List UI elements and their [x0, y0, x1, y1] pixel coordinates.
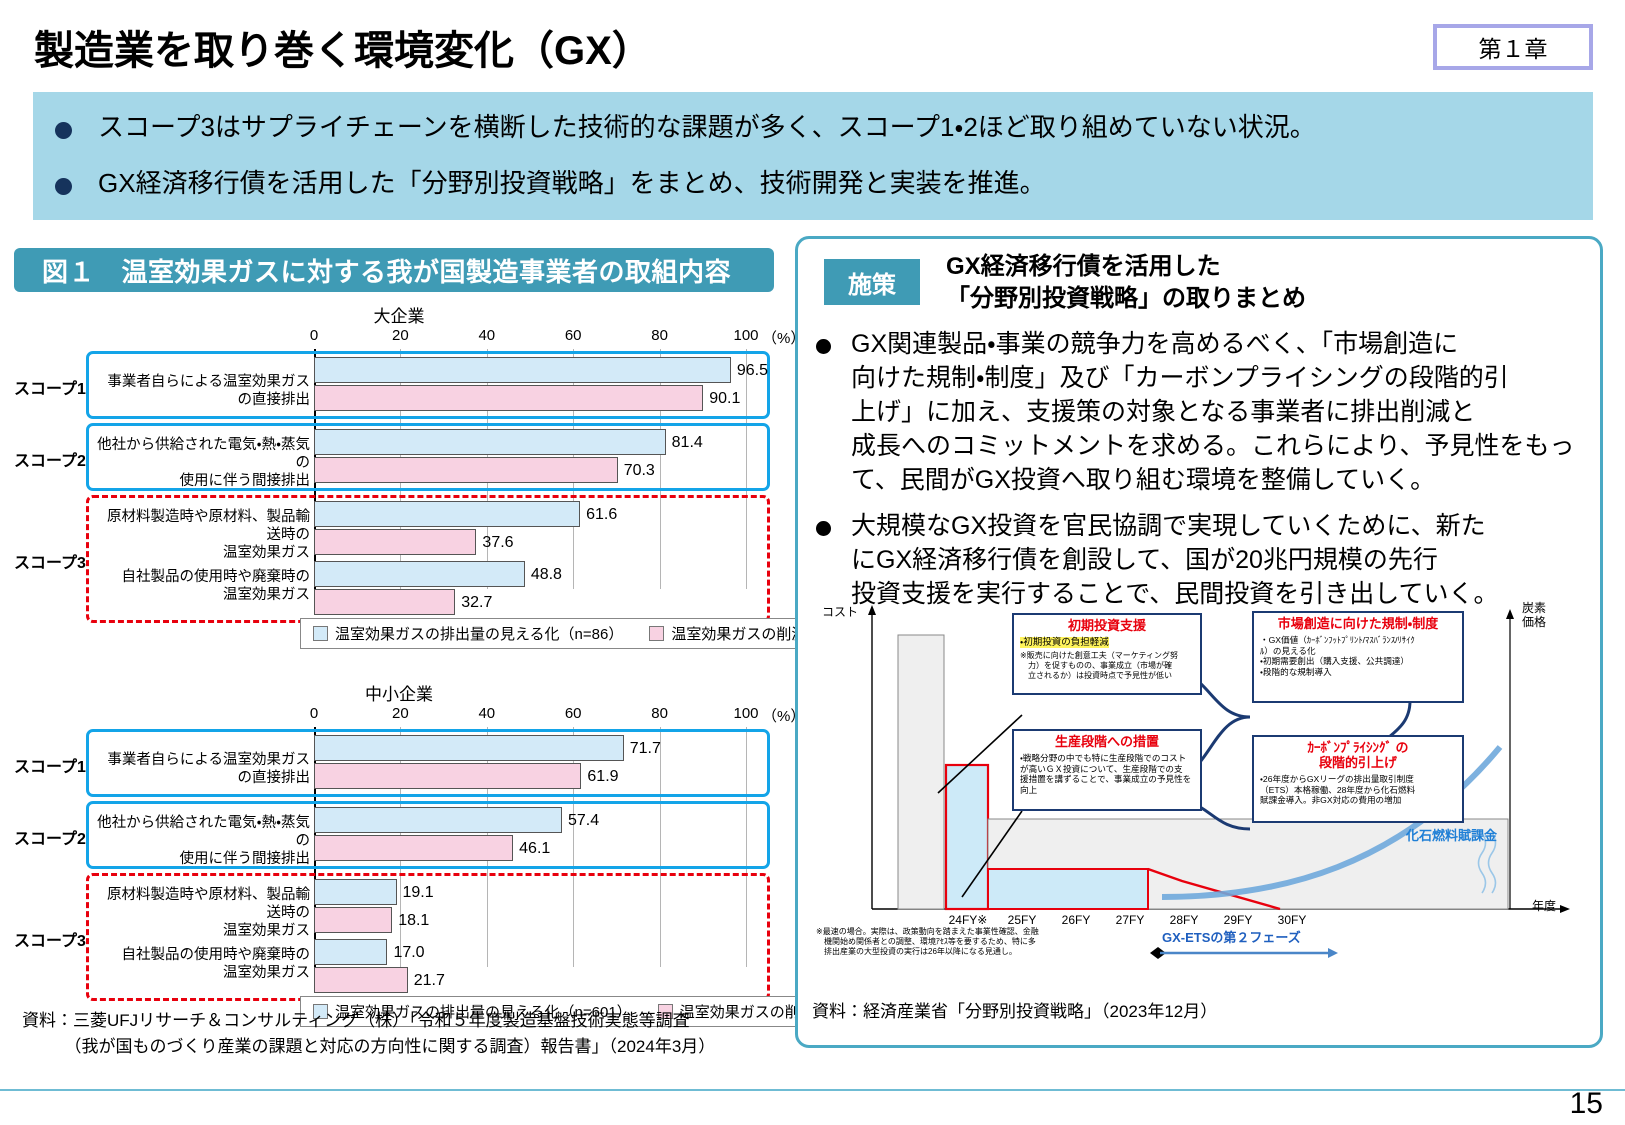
diagram-box-production-stage-measures: 生産段階への措置 ・戦略分野の中でも特に生産段階でのコスト が高いＧＸ投資につい… [1012, 729, 1202, 811]
bar-value-label: 71.7 [630, 740, 661, 758]
diagram-box-note: ※販売に向けた創意工夫（マーケティング努 力）を促すものの、事業成立（市場が確 … [1020, 651, 1194, 681]
scope-label: スコープ2 [14, 447, 86, 471]
bar-value-label: 81.4 [672, 434, 703, 452]
bar-value-label: 17.0 [393, 944, 424, 962]
summary-band: スコープ3はサプライチェーンを横断した技術的な課題が多く、スコープ1・2ほど取り… [33, 92, 1593, 220]
axis-tick-label: 80 [651, 705, 668, 722]
diagram-year-tick: 24FY※ [949, 913, 988, 927]
diagram-year-axis-label: 年度 [1532, 897, 1556, 914]
measure-badge: 施策 [824, 259, 920, 305]
axis-tick-label: 0 [310, 327, 318, 344]
diagram-year-tick: 30FY [1278, 913, 1307, 927]
bar-value-label: 19.1 [403, 884, 434, 902]
category-label: 原材料製造時や原材料、製品輸送時の 温室効果ガス [96, 886, 310, 940]
bar-value-label: 61.6 [586, 506, 617, 524]
category-label: 事業者自らによる温室効果ガスの直接排出 [96, 373, 310, 409]
bar [314, 457, 618, 483]
category-label: 他社から供給された電気・熱・蒸気の 使用に伴う間接排出 [96, 814, 310, 868]
bar-value-label: 46.1 [519, 840, 550, 858]
diagram-fossil-fuel-levy-label: 化石燃料賦課金 [1406, 825, 1497, 844]
bar [314, 429, 666, 455]
bar-value-label: 48.8 [531, 566, 562, 584]
axis-tick-label: 0 [310, 705, 318, 722]
gx-investment-diagram: コスト 炭素 価格 年度 初期投資支援 ・初期投資の負担軽減 ※販売に向けた創意… [810, 597, 1590, 975]
measure-bullet-text: GX関連製品・事業の競争力を高めるべく、「市場創造に 向けた規制・制度」及び「カ… [851, 327, 1575, 497]
category-label: 自社製品の使用時や廃棄時の 温室効果ガス [96, 946, 310, 982]
chart-title: 中小企業 [14, 680, 784, 705]
bar [314, 357, 731, 383]
diagram-year-tick: 28FY [1170, 913, 1199, 927]
bar [314, 939, 387, 965]
diagram-box-title: 初期投資支援 [1020, 619, 1194, 634]
chart-x-axis: 020406080100（%） [14, 705, 784, 727]
diagram-year-tick: 27FY [1116, 913, 1145, 927]
bar [314, 807, 562, 833]
bar-value-label: 61.9 [587, 768, 618, 786]
bullet-dot-icon [816, 521, 831, 536]
measure-bullet-row: GX関連製品・事業の競争力を高めるべく、「市場創造に 向けた規制・制度」及び「カ… [816, 327, 1594, 497]
axis-tick-label: 80 [651, 327, 668, 344]
bar [314, 385, 703, 411]
axis-tick-label: 60 [565, 705, 582, 722]
category-label: 事業者自らによる温室効果ガスの直接排出 [96, 751, 310, 787]
page-number: 15 [1570, 1087, 1603, 1121]
bar-value-label: 57.4 [568, 812, 599, 830]
chart-large-enterprises: 大企業 020406080100（%） スコープ1スコープ2スコープ3事業者自ら… [14, 302, 784, 662]
axis-tick-label: 100 [733, 327, 758, 344]
diagram-box-carbon-pricing-step-up: ｶｰﾎﾞﾝﾌﾟﾗｲｼﾝｸﾞ の 段階的引上げ ・26年度からGXリーグの排出量取… [1252, 735, 1464, 823]
figure-title: 図１ 温室効果ガスに対する我が国製造事業者の取組内容 [14, 248, 774, 292]
bar [314, 501, 580, 527]
axis-tick-label: 40 [478, 705, 495, 722]
scope-label: スコープ1 [14, 753, 86, 777]
diagram-cost-axis-label: コスト [822, 603, 858, 620]
legend-swatch-icon [649, 626, 664, 641]
bar [314, 879, 397, 905]
diagram-box-body: ・戦略分野の中でも特に生産段階でのコスト が高いＧＸ投資について、生産段階での支… [1020, 753, 1194, 796]
bar-value-label: 32.7 [461, 594, 492, 612]
diagram-box-title: ｶｰﾎﾞﾝﾌﾟﾗｲｼﾝｸﾞ の 段階的引上げ [1260, 741, 1456, 771]
diagram-year-tick: 29FY [1224, 913, 1253, 927]
chart-plot-area: スコープ1スコープ2スコープ3事業者自らによる温室効果ガスの直接排出71.761… [14, 727, 784, 967]
bar-value-label: 21.7 [414, 972, 445, 990]
summary-bullet-row: スコープ3はサプライチェーンを横断した技術的な課題が多く、スコープ1・2ほど取り… [33, 108, 1593, 164]
category-label: 他社から供給された電気・熱・蒸気の 使用に伴う間接排出 [96, 436, 310, 490]
diagram-box-title: 市場創造に向けた規制・制度 [1260, 617, 1456, 632]
right-source-note: 資料：経済産業省「分野別投資戦略」（2023年12月） [812, 997, 1217, 1022]
bar [314, 529, 476, 555]
diagram-box-marker-text: ・初期投資の負担軽減 [1020, 637, 1109, 648]
bar-value-label: 96.5 [737, 362, 768, 380]
chart-sme: 中小企業 020406080100（%） スコープ1スコープ2スコープ3事業者自… [14, 680, 784, 1040]
axis-tick-label: 20 [392, 327, 409, 344]
diagram-box-market-creation-regulation: 市場創造に向けた規制・制度 ・GX価値（ｶｰﾎﾞﾝﾌｯﾄﾌﾟﾘﾝﾄ/ﾏｽﾊﾞﾗﾝ… [1252, 611, 1464, 703]
bar [314, 735, 624, 761]
axis-tick-label: 100 [733, 705, 758, 722]
measure-bullet-text: 大規模なGX投資を官民協調で実現していくために、新た にGX経済移行債を創設して… [851, 509, 1499, 611]
axis-tick-label: 20 [392, 705, 409, 722]
diagram-footnote: ※最速の場合。実際は、政策動向を踏まえた事業性確認、金融 機関始め関係者との調整… [816, 927, 1066, 957]
bar [314, 763, 581, 789]
left-figure-panel: 図１ 温室効果ガスに対する我が国製造事業者の取組内容 大企業 020406080… [14, 248, 784, 1048]
legend-label: 温室効果ガスの排出量の見える化（n=86） [335, 623, 623, 644]
bullet-dot-icon [55, 178, 72, 195]
measure-bullets: GX関連製品・事業の競争力を高めるべく、「市場創造に 向けた規制・制度」及び「カ… [816, 327, 1594, 623]
axis-tick-label: 60 [565, 327, 582, 344]
bar [314, 967, 408, 993]
bullet-dot-icon [816, 339, 831, 354]
diagram-carbon-price-axis-label: 炭素 価格 [1522, 601, 1546, 630]
axis-tick-label: 40 [478, 327, 495, 344]
diagram-year-tick: 25FY [1008, 913, 1037, 927]
legend-item: 温室効果ガスの排出量の見える化（n=86） [313, 623, 623, 644]
category-label: 自社製品の使用時や廃棄時の 温室効果ガス [96, 568, 310, 604]
left-source-note: 資料：三菱UFJリサーチ＆コンサルティング（株）「令和５年度製造基盤技術実態等調… [22, 1008, 715, 1059]
scope-label: スコープ3 [14, 927, 86, 951]
legend-swatch-icon [313, 626, 328, 641]
diagram-year-tick: 26FY [1062, 913, 1091, 927]
bar [314, 561, 525, 587]
bar-value-label: 70.3 [624, 462, 655, 480]
category-label: 原材料製造時や原材料、製品輸送時の 温室効果ガス [96, 508, 310, 562]
diagram-box-marker: ・初期投資の負担軽減 [1020, 637, 1194, 649]
bar-value-label: 18.1 [398, 912, 429, 930]
diagram-box-title: 生産段階への措置 [1020, 735, 1194, 750]
chart-title: 大企業 [14, 302, 784, 327]
scope-label: スコープ1 [14, 375, 86, 399]
diagram-box-body: ・26年度からGXリーグの排出量取引制度 （ETS）本格稼働、28年度から化石燃… [1260, 774, 1456, 806]
bullet-dot-icon [55, 122, 72, 139]
measure-heading: GX経済移行債を活用した 「分野別投資戦略」の取りまとめ [946, 251, 1306, 314]
measure-bullet-row: 大規模なGX投資を官民協調で実現していくために、新た にGX経済移行債を創設して… [816, 509, 1594, 611]
chart-x-axis: 020406080100（%） [14, 327, 784, 349]
summary-bullet-row: GX経済移行債を活用した「分野別投資戦略」をまとめ、技術開発と実装を推進。 [33, 164, 1593, 220]
bar [314, 589, 455, 615]
diagram-box-body: ・GX価値（ｶｰﾎﾞﾝﾌｯﾄﾌﾟﾘﾝﾄ/ﾏｽﾊﾞﾗﾝｽ/ﾘｻｲｸ ﾙ）の見える化… [1260, 635, 1456, 678]
diagram-ets-phase-label: GX-ETSの第２フェーズ [1162, 927, 1301, 946]
diagram-box-initial-investment-support: 初期投資支援 ・初期投資の負担軽減 ※販売に向けた創意工夫（マーケティング努 力… [1012, 613, 1202, 695]
bottom-rule [0, 1089, 1625, 1091]
scope-label: スコープ3 [14, 549, 86, 573]
bar-value-label: 37.6 [482, 534, 513, 552]
bar [314, 907, 392, 933]
chart-plot-area: スコープ1スコープ2スコープ3事業者自らによる温室効果ガスの直接排出96.590… [14, 349, 784, 589]
chapter-badge: 第１章 [1433, 24, 1593, 70]
bar [314, 835, 513, 861]
summary-bullet-text: スコープ3はサプライチェーンを横断した技術的な課題が多く、スコープ1・2ほど取り… [98, 112, 1316, 143]
scope-label: スコープ2 [14, 825, 86, 849]
slide-root: 製造業を取り巻く環境変化（GX） 第１章 スコープ3はサプライチェーンを横断した… [0, 0, 1625, 1125]
summary-bullet-text: GX経済移行債を活用した「分野別投資戦略」をまとめ、技術開発と実装を推進。 [98, 168, 1046, 199]
bar-value-label: 90.1 [709, 390, 740, 408]
page-title: 製造業を取り巻く環境変化（GX） [34, 18, 652, 76]
right-measure-panel: 施策 GX経済移行債を活用した 「分野別投資戦略」の取りまとめ GX関連製品・事… [795, 236, 1603, 1048]
